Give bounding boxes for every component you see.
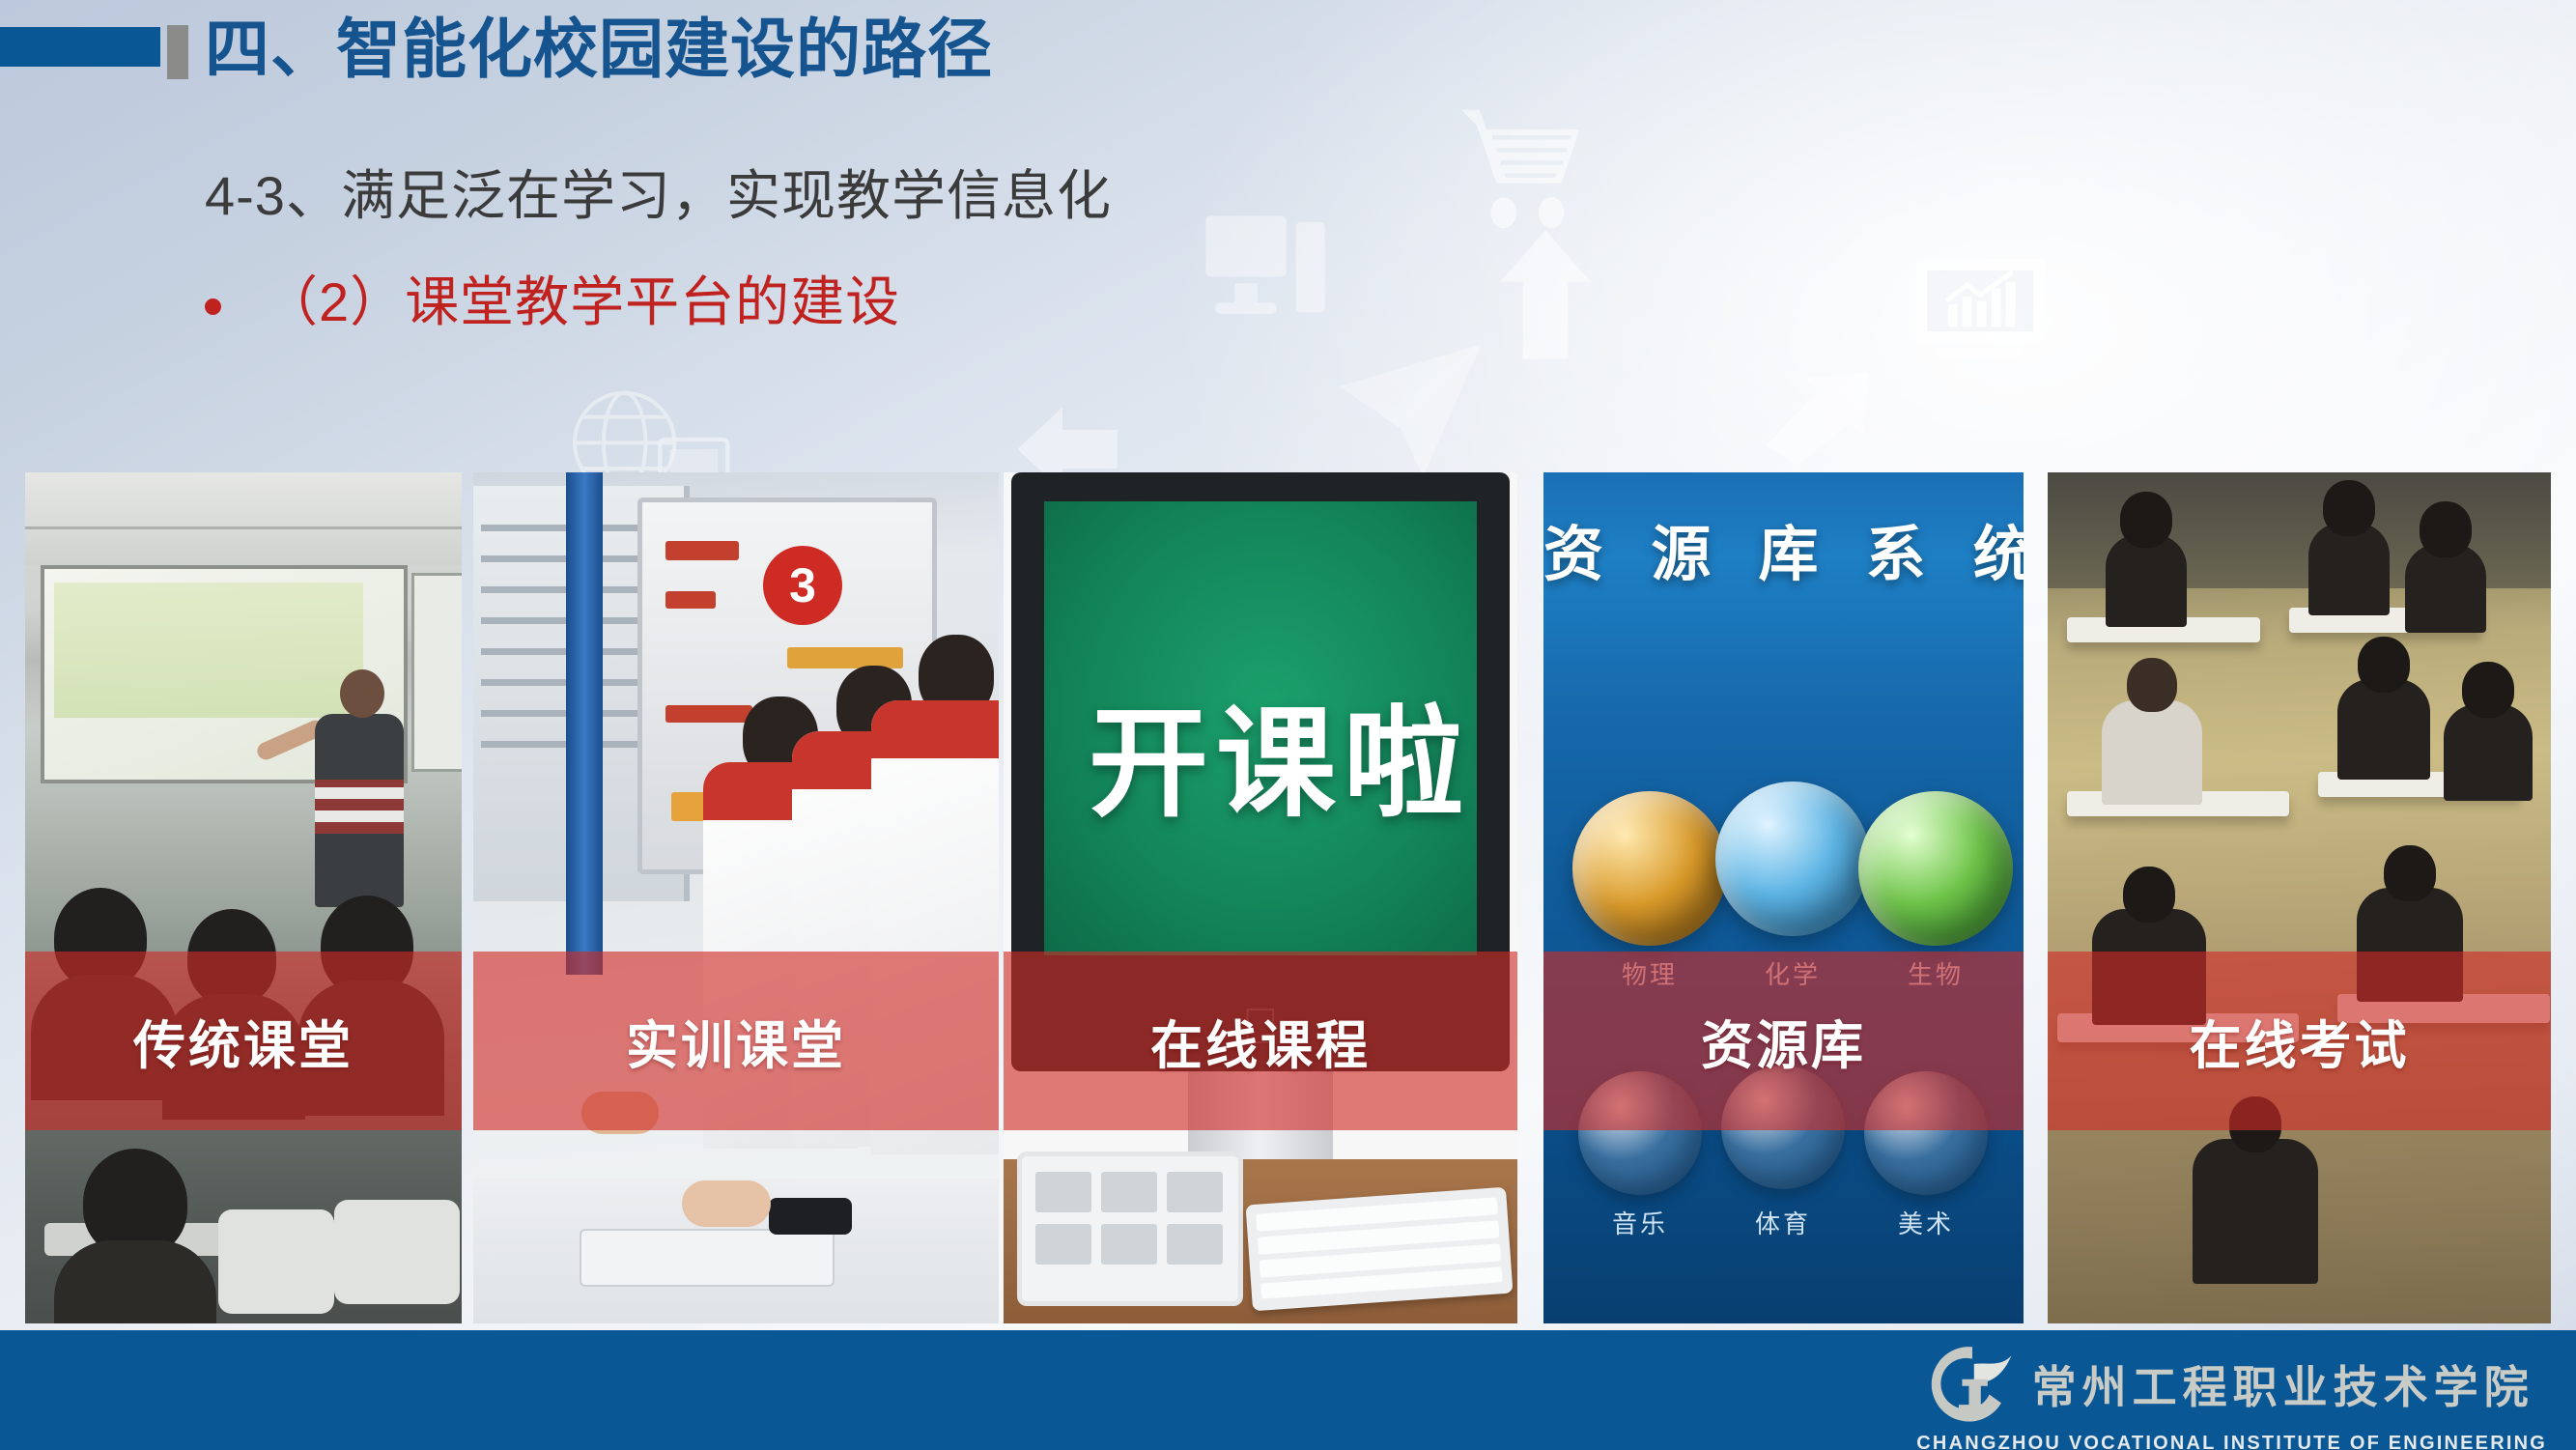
paper-plane-icon — [1333, 338, 1487, 483]
school-emblem-icon — [1930, 1342, 2015, 1427]
subject-label-art: 美术 — [1849, 1205, 2003, 1240]
photo-caption-band: 在线课程 — [1004, 952, 1517, 1130]
section-subtitle: 4-3、满足泛在学习，实现教学信息化 — [205, 164, 1112, 228]
photo-label: 传统课堂 — [133, 1003, 354, 1079]
school-name-en: CHANGZHOU VOCATIONAL INSTITUTE OF ENGINE… — [1916, 1433, 2547, 1450]
footer-bar: 常州工程职业技术学院 CHANGZHOU VOCATIONAL INSTITUT… — [0, 1330, 2576, 1450]
header-accent-block — [0, 27, 160, 67]
photo-image-online-exam — [2048, 472, 2551, 1323]
header-divider-bar — [167, 25, 188, 79]
photo-caption-band: 传统课堂 — [25, 952, 462, 1130]
photo-label: 在线考试 — [2190, 1003, 2410, 1079]
photo-card-online-course[interactable]: 开课啦  — [1004, 472, 1517, 1323]
photo-strip: 传统课堂 3 — [25, 472, 2551, 1323]
screen-text-resource-library: 资 源 库 系 统 — [1543, 505, 2024, 592]
photo-label: 实训课堂 — [626, 1003, 846, 1079]
photo-label: 在线课程 — [1150, 1003, 1371, 1079]
bullet-marker-icon — [205, 299, 221, 315]
photo-image-resource-library: 资 源 库 系 统 物理 化学 生物 音乐 体育 美术 — [1543, 472, 2024, 1323]
photo-label: 资源库 — [1701, 1003, 1866, 1079]
photo-card-resource-library[interactable]: 资 源 库 系 统 物理 化学 生物 音乐 体育 美术 资源库 — [1543, 472, 2024, 1323]
diagonal-arrow-icon — [1763, 362, 1888, 469]
bullet-line: （2）课堂教学平台的建设 — [205, 270, 900, 334]
slide-canvas: 四、智能化校园建设的路径 4-3、满足泛在学习，实现教学信息化 （2）课堂教学平… — [0, 0, 2576, 1450]
desktop-computer-icon — [1203, 213, 1328, 348]
bullet-text: （2）课堂教学平台的建设 — [264, 270, 900, 334]
photo-image-traditional-classroom — [25, 472, 462, 1323]
photo-caption-band: 实训课堂 — [473, 952, 999, 1130]
subject-label-pe: 体育 — [1706, 1205, 1860, 1240]
school-name-cn: 常州工程职业技术学院 — [2032, 1352, 2534, 1416]
monitor-chart-icon — [1912, 256, 2048, 362]
screen-text-online-course: 开课啦 — [1089, 666, 1471, 839]
photo-card-online-exam[interactable]: 在线考试 — [2048, 472, 2551, 1323]
photo-image-training-lab: 3 — [473, 472, 999, 1323]
photo-caption-band: 在线考试 — [2048, 952, 2551, 1130]
photo-card-training-lab[interactable]: 3 实训课堂 — [473, 472, 999, 1323]
school-logo: 常州工程职业技术学院 CHANGZHOU VOCATIONAL INSTITUT… — [1916, 1342, 2547, 1450]
shopping-cart-icon — [1454, 101, 1599, 237]
photo-card-traditional-classroom[interactable]: 传统课堂 — [25, 472, 462, 1323]
up-arrow-icon — [1497, 227, 1594, 362]
photo-caption-band: 资源库 — [1543, 952, 2024, 1130]
subject-label-music: 音乐 — [1563, 1205, 1717, 1240]
photo-badge-number: 3 — [763, 546, 842, 625]
photo-image-online-course: 开课啦  — [1004, 472, 1517, 1323]
page-title: 四、智能化校园建设的路径 — [205, 14, 993, 87]
